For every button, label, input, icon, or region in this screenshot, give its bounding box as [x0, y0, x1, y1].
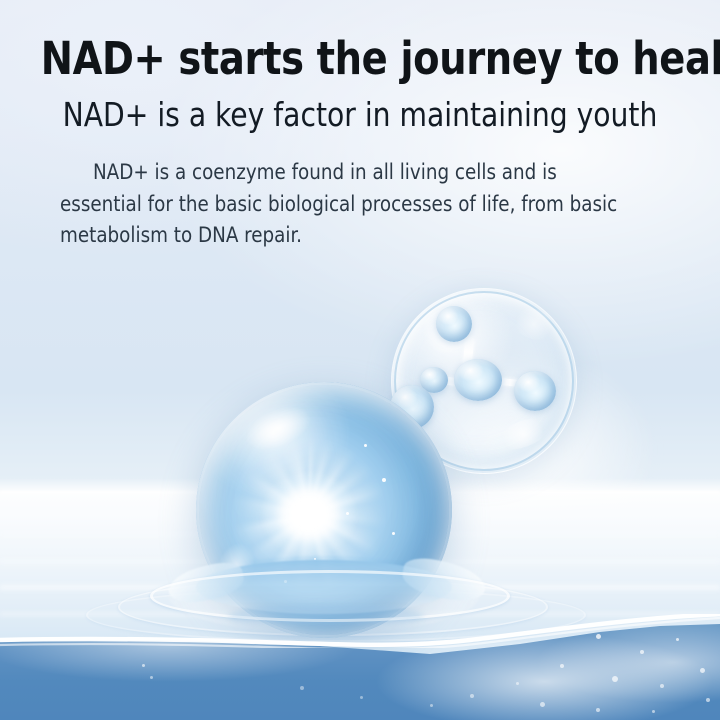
water-bubble	[612, 676, 618, 682]
water-bubble	[516, 682, 519, 685]
water-bubble	[470, 694, 474, 698]
molecule-atom	[436, 306, 472, 342]
water-bubble	[142, 664, 145, 667]
water-bubble	[150, 676, 153, 679]
water-bubble	[596, 708, 600, 712]
water-bubble	[560, 664, 564, 668]
water-bubble	[430, 704, 433, 707]
water-bubble	[540, 702, 545, 707]
text-block: NAD+ starts the journey to health NAD+ i…	[0, 0, 720, 252]
molecule-atom-center	[454, 359, 502, 401]
water-bubble	[596, 634, 601, 639]
water-bubble	[676, 638, 679, 641]
water-bubble	[700, 668, 705, 673]
page-title: NAD+ starts the journey to health	[41, 36, 679, 81]
water-bubble	[652, 710, 655, 713]
page-subtitle: NAD+ is a key factor in maintaining yout…	[41, 98, 679, 133]
nad-promo-banner: NAD+ starts the journey to health NAD+ i…	[0, 0, 720, 720]
underwater-bubble-field	[0, 624, 720, 720]
molecule-atom	[514, 371, 556, 411]
water-bubble	[706, 698, 710, 702]
water-bubble	[300, 686, 304, 690]
water-bubble	[360, 696, 363, 699]
body-paragraph: NAD+ is a coenzyme found in all living c…	[60, 157, 642, 253]
water-bubble	[640, 650, 644, 654]
water-bubble	[660, 684, 664, 688]
